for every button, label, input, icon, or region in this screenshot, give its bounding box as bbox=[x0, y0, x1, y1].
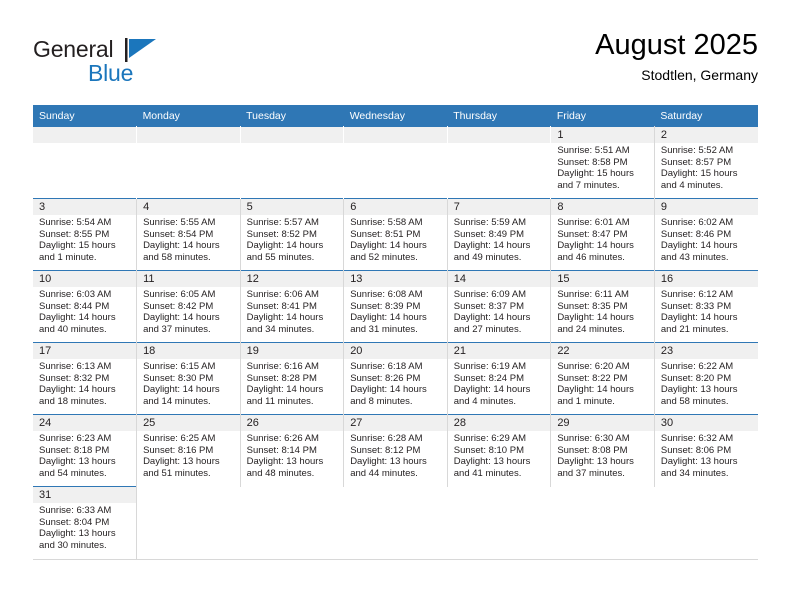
sunset-text: Sunset: 8:30 PM bbox=[143, 373, 235, 385]
daylight-text-line1: Daylight: 13 hours bbox=[247, 456, 339, 468]
sunrise-text: Sunrise: 6:19 AM bbox=[454, 361, 546, 373]
sunrise-text: Sunrise: 6:28 AM bbox=[350, 433, 442, 445]
day-number: 24 bbox=[33, 415, 136, 431]
daylight-text-line1: Daylight: 14 hours bbox=[143, 384, 235, 396]
sunset-text: Sunset: 8:35 PM bbox=[557, 301, 649, 313]
blue-triangle-flag-icon bbox=[125, 38, 157, 62]
calendar-cell-empty bbox=[447, 127, 551, 199]
daylight-text-line2: and 40 minutes. bbox=[39, 324, 131, 336]
day-detail: Sunrise: 6:18 AMSunset: 8:26 PMDaylight:… bbox=[344, 359, 447, 407]
sunset-text: Sunset: 8:47 PM bbox=[557, 229, 649, 241]
daylight-text-line1: Daylight: 13 hours bbox=[350, 456, 442, 468]
sunrise-sunset-calendar: Sunday Monday Tuesday Wednesday Thursday… bbox=[33, 105, 758, 559]
daylight-text-line2: and 30 minutes. bbox=[39, 540, 131, 552]
daylight-text-line1: Daylight: 14 hours bbox=[39, 312, 131, 324]
calendar-day-cell[interactable]: 7Sunrise: 5:59 AMSunset: 8:49 PMDaylight… bbox=[447, 199, 551, 271]
calendar-day-cell[interactable]: 15Sunrise: 6:11 AMSunset: 8:35 PMDayligh… bbox=[551, 271, 655, 343]
day-number-band bbox=[241, 127, 344, 143]
day-number: 6 bbox=[344, 199, 447, 215]
day-number: 18 bbox=[137, 343, 240, 359]
daylight-text-line1: Daylight: 14 hours bbox=[454, 240, 546, 252]
calendar-bottom-rule bbox=[33, 559, 758, 560]
day-detail: Sunrise: 6:06 AMSunset: 8:41 PMDaylight:… bbox=[241, 287, 344, 335]
sunset-text: Sunset: 8:51 PM bbox=[350, 229, 442, 241]
sunset-text: Sunset: 8:54 PM bbox=[143, 229, 235, 241]
daylight-text-line2: and 49 minutes. bbox=[454, 252, 546, 264]
weekday-header-sunday: Sunday bbox=[33, 105, 137, 127]
calendar-day-cell[interactable]: 23Sunrise: 6:22 AMSunset: 8:20 PMDayligh… bbox=[654, 343, 758, 415]
calendar-day-cell[interactable]: 8Sunrise: 6:01 AMSunset: 8:47 PMDaylight… bbox=[551, 199, 655, 271]
daylight-text-line2: and 24 minutes. bbox=[557, 324, 649, 336]
day-detail: Sunrise: 6:19 AMSunset: 8:24 PMDaylight:… bbox=[448, 359, 551, 407]
day-detail: Sunrise: 6:16 AMSunset: 8:28 PMDaylight:… bbox=[241, 359, 344, 407]
day-number: 16 bbox=[655, 271, 758, 287]
sunrise-text: Sunrise: 6:15 AM bbox=[143, 361, 235, 373]
daylight-text-line1: Daylight: 14 hours bbox=[661, 312, 753, 324]
day-detail: Sunrise: 6:32 AMSunset: 8:06 PMDaylight:… bbox=[655, 431, 758, 479]
day-number: 3 bbox=[33, 199, 136, 215]
sunset-text: Sunset: 8:49 PM bbox=[454, 229, 546, 241]
day-number: 30 bbox=[655, 415, 758, 431]
day-detail: Sunrise: 5:58 AMSunset: 8:51 PMDaylight:… bbox=[344, 215, 447, 263]
daylight-text-line2: and 44 minutes. bbox=[350, 468, 442, 480]
day-number: 12 bbox=[241, 271, 344, 287]
day-detail: Sunrise: 5:55 AMSunset: 8:54 PMDaylight:… bbox=[137, 215, 240, 263]
sunrise-text: Sunrise: 5:52 AM bbox=[661, 145, 753, 157]
logo-text-blue: Blue bbox=[88, 60, 133, 87]
day-number: 8 bbox=[551, 199, 654, 215]
sunset-text: Sunset: 8:20 PM bbox=[661, 373, 753, 385]
calendar-day-cell[interactable]: 26Sunrise: 6:26 AMSunset: 8:14 PMDayligh… bbox=[240, 415, 344, 487]
daylight-text-line2: and 34 minutes. bbox=[661, 468, 753, 480]
day-detail: Sunrise: 5:59 AMSunset: 8:49 PMDaylight:… bbox=[448, 215, 551, 263]
daylight-text-line2: and 37 minutes. bbox=[557, 468, 649, 480]
sunrise-text: Sunrise: 6:08 AM bbox=[350, 289, 442, 301]
day-number-band bbox=[344, 127, 447, 143]
daylight-text-line1: Daylight: 13 hours bbox=[454, 456, 546, 468]
day-detail: Sunrise: 6:30 AMSunset: 8:08 PMDaylight:… bbox=[551, 431, 654, 479]
day-number: 31 bbox=[33, 487, 136, 503]
sunset-text: Sunset: 8:14 PM bbox=[247, 445, 339, 457]
sunrise-text: Sunrise: 5:55 AM bbox=[143, 217, 235, 229]
calendar-day-cell[interactable]: 22Sunrise: 6:20 AMSunset: 8:22 PMDayligh… bbox=[551, 343, 655, 415]
calendar-day-cell[interactable]: 12Sunrise: 6:06 AMSunset: 8:41 PMDayligh… bbox=[240, 271, 344, 343]
calendar-week-row: 31Sunrise: 6:33 AMSunset: 8:04 PMDayligh… bbox=[33, 487, 758, 559]
sunrise-text: Sunrise: 6:06 AM bbox=[247, 289, 339, 301]
day-number: 20 bbox=[344, 343, 447, 359]
sunset-text: Sunset: 8:12 PM bbox=[350, 445, 442, 457]
calendar-cell-blank bbox=[654, 487, 758, 559]
page-subtitle-location: Stodtlen, Germany bbox=[595, 65, 758, 85]
calendar-day-cell[interactable]: 21Sunrise: 6:19 AMSunset: 8:24 PMDayligh… bbox=[447, 343, 551, 415]
daylight-text-line1: Daylight: 13 hours bbox=[557, 456, 649, 468]
weekday-header-friday: Friday bbox=[551, 105, 655, 127]
daylight-text-line1: Daylight: 14 hours bbox=[350, 384, 442, 396]
calendar-day-cell[interactable]: 31Sunrise: 6:33 AMSunset: 8:04 PMDayligh… bbox=[33, 487, 137, 559]
daylight-text-line1: Daylight: 14 hours bbox=[247, 312, 339, 324]
calendar-week-row: 1Sunrise: 5:51 AMSunset: 8:58 PMDaylight… bbox=[33, 127, 758, 199]
day-detail: Sunrise: 6:13 AMSunset: 8:32 PMDaylight:… bbox=[33, 359, 136, 407]
sunrise-text: Sunrise: 6:29 AM bbox=[454, 433, 546, 445]
page-header: General Blue August 2025 Stodtlen, Germa… bbox=[33, 28, 758, 94]
day-detail: Sunrise: 5:54 AMSunset: 8:55 PMDaylight:… bbox=[33, 215, 136, 263]
weekday-header-row: Sunday Monday Tuesday Wednesday Thursday… bbox=[33, 105, 758, 127]
calendar-week-row: 10Sunrise: 6:03 AMSunset: 8:44 PMDayligh… bbox=[33, 271, 758, 343]
sunset-text: Sunset: 8:46 PM bbox=[661, 229, 753, 241]
calendar-day-cell[interactable]: 24Sunrise: 6:23 AMSunset: 8:18 PMDayligh… bbox=[33, 415, 137, 487]
daylight-text-line2: and 4 minutes. bbox=[454, 396, 546, 408]
daylight-text-line1: Daylight: 14 hours bbox=[350, 240, 442, 252]
calendar-day-cell[interactable]: 2Sunrise: 5:52 AMSunset: 8:57 PMDaylight… bbox=[654, 127, 758, 199]
calendar-cell-empty bbox=[240, 127, 344, 199]
calendar-page: General Blue August 2025 Stodtlen, Germa… bbox=[0, 0, 792, 612]
sunset-text: Sunset: 8:33 PM bbox=[661, 301, 753, 313]
day-number: 15 bbox=[551, 271, 654, 287]
sunset-text: Sunset: 8:44 PM bbox=[39, 301, 131, 313]
sunrise-text: Sunrise: 6:30 AM bbox=[557, 433, 649, 445]
day-detail: Sunrise: 6:11 AMSunset: 8:35 PMDaylight:… bbox=[551, 287, 654, 335]
calendar-day-cell[interactable]: 6Sunrise: 5:58 AMSunset: 8:51 PMDaylight… bbox=[344, 199, 448, 271]
day-number: 27 bbox=[344, 415, 447, 431]
daylight-text-line2: and 58 minutes. bbox=[661, 396, 753, 408]
day-detail: Sunrise: 6:01 AMSunset: 8:47 PMDaylight:… bbox=[551, 215, 654, 263]
daylight-text-line2: and 48 minutes. bbox=[247, 468, 339, 480]
calendar-day-cell[interactable]: 28Sunrise: 6:29 AMSunset: 8:10 PMDayligh… bbox=[447, 415, 551, 487]
calendar-day-cell[interactable]: 9Sunrise: 6:02 AMSunset: 8:46 PMDaylight… bbox=[654, 199, 758, 271]
general-blue-logo: General Blue bbox=[33, 36, 233, 88]
daylight-text-line1: Daylight: 14 hours bbox=[143, 312, 235, 324]
day-detail: Sunrise: 5:51 AMSunset: 8:58 PMDaylight:… bbox=[551, 143, 654, 191]
day-number-band bbox=[33, 127, 136, 143]
day-number: 19 bbox=[241, 343, 344, 359]
sunset-text: Sunset: 8:04 PM bbox=[39, 517, 131, 529]
sunrise-text: Sunrise: 6:02 AM bbox=[661, 217, 753, 229]
sunrise-text: Sunrise: 6:01 AM bbox=[557, 217, 649, 229]
sunset-text: Sunset: 8:41 PM bbox=[247, 301, 339, 313]
sunset-text: Sunset: 8:39 PM bbox=[350, 301, 442, 313]
day-detail: Sunrise: 6:02 AMSunset: 8:46 PMDaylight:… bbox=[655, 215, 758, 263]
daylight-text-line1: Daylight: 14 hours bbox=[350, 312, 442, 324]
day-number: 4 bbox=[137, 199, 240, 215]
sunrise-text: Sunrise: 6:16 AM bbox=[247, 361, 339, 373]
daylight-text-line1: Daylight: 14 hours bbox=[247, 240, 339, 252]
calendar-day-cell[interactable]: 1Sunrise: 5:51 AMSunset: 8:58 PMDaylight… bbox=[551, 127, 655, 199]
day-number-band bbox=[448, 127, 551, 143]
sunrise-text: Sunrise: 6:23 AM bbox=[39, 433, 131, 445]
sunset-text: Sunset: 8:37 PM bbox=[454, 301, 546, 313]
calendar-cell-blank bbox=[447, 487, 551, 559]
day-number: 17 bbox=[33, 343, 136, 359]
daylight-text-line2: and 7 minutes. bbox=[557, 180, 649, 192]
daylight-text-line1: Daylight: 15 hours bbox=[661, 168, 753, 180]
day-detail: Sunrise: 6:23 AMSunset: 8:18 PMDaylight:… bbox=[33, 431, 136, 479]
daylight-text-line1: Daylight: 14 hours bbox=[557, 240, 649, 252]
calendar-day-cell[interactable]: 18Sunrise: 6:15 AMSunset: 8:30 PMDayligh… bbox=[137, 343, 241, 415]
day-detail: Sunrise: 5:57 AMSunset: 8:52 PMDaylight:… bbox=[241, 215, 344, 263]
daylight-text-line1: Daylight: 14 hours bbox=[557, 312, 649, 324]
daylight-text-line2: and 1 minute. bbox=[39, 252, 131, 264]
daylight-text-line2: and 34 minutes. bbox=[247, 324, 339, 336]
day-number: 13 bbox=[344, 271, 447, 287]
sunset-text: Sunset: 8:42 PM bbox=[143, 301, 235, 313]
calendar-week-row: 24Sunrise: 6:23 AMSunset: 8:18 PMDayligh… bbox=[33, 415, 758, 487]
daylight-text-line2: and 1 minute. bbox=[557, 396, 649, 408]
calendar-day-cell[interactable]: 16Sunrise: 6:12 AMSunset: 8:33 PMDayligh… bbox=[654, 271, 758, 343]
daylight-text-line2: and 54 minutes. bbox=[39, 468, 131, 480]
day-detail: Sunrise: 6:15 AMSunset: 8:30 PMDaylight:… bbox=[137, 359, 240, 407]
calendar-cell-blank bbox=[240, 487, 344, 559]
calendar-week-row: 3Sunrise: 5:54 AMSunset: 8:55 PMDaylight… bbox=[33, 199, 758, 271]
daylight-text-line2: and 41 minutes. bbox=[454, 468, 546, 480]
day-number: 22 bbox=[551, 343, 654, 359]
sunrise-text: Sunrise: 5:58 AM bbox=[350, 217, 442, 229]
sunrise-text: Sunrise: 5:59 AM bbox=[454, 217, 546, 229]
sunrise-text: Sunrise: 5:54 AM bbox=[39, 217, 131, 229]
day-number: 11 bbox=[137, 271, 240, 287]
day-detail: Sunrise: 6:05 AMSunset: 8:42 PMDaylight:… bbox=[137, 287, 240, 335]
sunrise-text: Sunrise: 6:13 AM bbox=[39, 361, 131, 373]
day-number: 9 bbox=[655, 199, 758, 215]
sunset-text: Sunset: 8:24 PM bbox=[454, 373, 546, 385]
day-detail: Sunrise: 6:03 AMSunset: 8:44 PMDaylight:… bbox=[33, 287, 136, 335]
daylight-text-line1: Daylight: 15 hours bbox=[39, 240, 131, 252]
sunrise-text: Sunrise: 6:33 AM bbox=[39, 505, 131, 517]
day-detail: Sunrise: 6:33 AMSunset: 8:04 PMDaylight:… bbox=[33, 503, 136, 551]
calendar-day-cell[interactable]: 14Sunrise: 6:09 AMSunset: 8:37 PMDayligh… bbox=[447, 271, 551, 343]
sunset-text: Sunset: 8:32 PM bbox=[39, 373, 131, 385]
sunset-text: Sunset: 8:10 PM bbox=[454, 445, 546, 457]
calendar-cell-blank bbox=[137, 487, 241, 559]
sunrise-text: Sunrise: 6:20 AM bbox=[557, 361, 649, 373]
day-number: 23 bbox=[655, 343, 758, 359]
daylight-text-line2: and 11 minutes. bbox=[247, 396, 339, 408]
day-detail: Sunrise: 5:52 AMSunset: 8:57 PMDaylight:… bbox=[655, 143, 758, 191]
daylight-text-line2: and 21 minutes. bbox=[661, 324, 753, 336]
daylight-text-line1: Daylight: 15 hours bbox=[557, 168, 649, 180]
day-detail: Sunrise: 6:09 AMSunset: 8:37 PMDaylight:… bbox=[448, 287, 551, 335]
calendar-day-cell[interactable]: 4Sunrise: 5:55 AMSunset: 8:54 PMDaylight… bbox=[137, 199, 241, 271]
sunrise-text: Sunrise: 6:18 AM bbox=[350, 361, 442, 373]
sunset-text: Sunset: 8:18 PM bbox=[39, 445, 131, 457]
weekday-header-monday: Monday bbox=[137, 105, 241, 127]
calendar-cell-empty bbox=[137, 127, 241, 199]
daylight-text-line2: and 18 minutes. bbox=[39, 396, 131, 408]
calendar-day-cell[interactable]: 5Sunrise: 5:57 AMSunset: 8:52 PMDaylight… bbox=[240, 199, 344, 271]
sunrise-text: Sunrise: 5:51 AM bbox=[557, 145, 649, 157]
sunset-text: Sunset: 8:28 PM bbox=[247, 373, 339, 385]
sunset-text: Sunset: 8:57 PM bbox=[661, 157, 753, 169]
day-detail: Sunrise: 6:12 AMSunset: 8:33 PMDaylight:… bbox=[655, 287, 758, 335]
calendar-cell-blank bbox=[551, 487, 655, 559]
day-number: 10 bbox=[33, 271, 136, 287]
day-number: 5 bbox=[241, 199, 344, 215]
calendar-day-cell[interactable]: 29Sunrise: 6:30 AMSunset: 8:08 PMDayligh… bbox=[551, 415, 655, 487]
day-number: 28 bbox=[448, 415, 551, 431]
day-detail: Sunrise: 6:25 AMSunset: 8:16 PMDaylight:… bbox=[137, 431, 240, 479]
day-number: 1 bbox=[551, 127, 654, 143]
daylight-text-line2: and 46 minutes. bbox=[557, 252, 649, 264]
daylight-text-line2: and 51 minutes. bbox=[143, 468, 235, 480]
daylight-text-line2: and 55 minutes. bbox=[247, 252, 339, 264]
sunset-text: Sunset: 8:08 PM bbox=[557, 445, 649, 457]
sunrise-text: Sunrise: 6:25 AM bbox=[143, 433, 235, 445]
calendar-day-cell[interactable]: 30Sunrise: 6:32 AMSunset: 8:06 PMDayligh… bbox=[654, 415, 758, 487]
sunrise-text: Sunrise: 6:11 AM bbox=[557, 289, 649, 301]
day-number: 26 bbox=[241, 415, 344, 431]
sunrise-text: Sunrise: 6:05 AM bbox=[143, 289, 235, 301]
calendar-day-cell[interactable]: 20Sunrise: 6:18 AMSunset: 8:26 PMDayligh… bbox=[344, 343, 448, 415]
daylight-text-line1: Daylight: 14 hours bbox=[454, 312, 546, 324]
daylight-text-line2: and 31 minutes. bbox=[350, 324, 442, 336]
sunrise-text: Sunrise: 6:09 AM bbox=[454, 289, 546, 301]
day-number: 2 bbox=[655, 127, 758, 143]
title-block: August 2025 Stodtlen, Germany bbox=[595, 28, 758, 85]
daylight-text-line1: Daylight: 13 hours bbox=[39, 528, 131, 540]
calendar-day-cell[interactable]: 13Sunrise: 6:08 AMSunset: 8:39 PMDayligh… bbox=[344, 271, 448, 343]
sunset-text: Sunset: 8:22 PM bbox=[557, 373, 649, 385]
sunset-text: Sunset: 8:55 PM bbox=[39, 229, 131, 241]
sunset-text: Sunset: 8:06 PM bbox=[661, 445, 753, 457]
calendar-cell-empty bbox=[33, 127, 137, 199]
calendar-day-cell[interactable]: 17Sunrise: 6:13 AMSunset: 8:32 PMDayligh… bbox=[33, 343, 137, 415]
sunset-text: Sunset: 8:52 PM bbox=[247, 229, 339, 241]
calendar-day-cell[interactable]: 19Sunrise: 6:16 AMSunset: 8:28 PMDayligh… bbox=[240, 343, 344, 415]
day-detail: Sunrise: 6:22 AMSunset: 8:20 PMDaylight:… bbox=[655, 359, 758, 407]
weekday-header-saturday: Saturday bbox=[654, 105, 758, 127]
daylight-text-line1: Daylight: 14 hours bbox=[454, 384, 546, 396]
day-detail: Sunrise: 6:08 AMSunset: 8:39 PMDaylight:… bbox=[344, 287, 447, 335]
daylight-text-line1: Daylight: 13 hours bbox=[661, 384, 753, 396]
sunrise-text: Sunrise: 6:22 AM bbox=[661, 361, 753, 373]
daylight-text-line2: and 43 minutes. bbox=[661, 252, 753, 264]
day-number: 21 bbox=[448, 343, 551, 359]
daylight-text-line2: and 58 minutes. bbox=[143, 252, 235, 264]
sunrise-text: Sunrise: 6:26 AM bbox=[247, 433, 339, 445]
day-number: 14 bbox=[448, 271, 551, 287]
daylight-text-line2: and 14 minutes. bbox=[143, 396, 235, 408]
calendar-body: 1Sunrise: 5:51 AMSunset: 8:58 PMDaylight… bbox=[33, 127, 758, 559]
calendar-week-row: 17Sunrise: 6:13 AMSunset: 8:32 PMDayligh… bbox=[33, 343, 758, 415]
daylight-text-line2: and 37 minutes. bbox=[143, 324, 235, 336]
daylight-text-line1: Daylight: 14 hours bbox=[247, 384, 339, 396]
day-detail: Sunrise: 6:28 AMSunset: 8:12 PMDaylight:… bbox=[344, 431, 447, 479]
calendar-cell-empty bbox=[344, 127, 448, 199]
sunset-text: Sunset: 8:26 PM bbox=[350, 373, 442, 385]
day-detail: Sunrise: 6:20 AMSunset: 8:22 PMDaylight:… bbox=[551, 359, 654, 407]
day-number-band bbox=[137, 127, 240, 143]
daylight-text-line1: Daylight: 13 hours bbox=[661, 456, 753, 468]
sunrise-text: Sunrise: 6:32 AM bbox=[661, 433, 753, 445]
page-title: August 2025 bbox=[595, 28, 758, 62]
calendar-day-cell[interactable]: 27Sunrise: 6:28 AMSunset: 8:12 PMDayligh… bbox=[344, 415, 448, 487]
daylight-text-line1: Daylight: 14 hours bbox=[661, 240, 753, 252]
daylight-text-line1: Daylight: 14 hours bbox=[557, 384, 649, 396]
daylight-text-line1: Daylight: 13 hours bbox=[39, 456, 131, 468]
day-number: 25 bbox=[137, 415, 240, 431]
weekday-header-wednesday: Wednesday bbox=[344, 105, 448, 127]
weekday-header-thursday: Thursday bbox=[447, 105, 551, 127]
sunrise-text: Sunrise: 6:12 AM bbox=[661, 289, 753, 301]
daylight-text-line1: Daylight: 13 hours bbox=[143, 456, 235, 468]
day-detail: Sunrise: 6:29 AMSunset: 8:10 PMDaylight:… bbox=[448, 431, 551, 479]
daylight-text-line1: Daylight: 14 hours bbox=[39, 384, 131, 396]
calendar-day-cell[interactable]: 3Sunrise: 5:54 AMSunset: 8:55 PMDaylight… bbox=[33, 199, 137, 271]
daylight-text-line2: and 52 minutes. bbox=[350, 252, 442, 264]
sunset-text: Sunset: 8:16 PM bbox=[143, 445, 235, 457]
calendar-cell-blank bbox=[344, 487, 448, 559]
sunset-text: Sunset: 8:58 PM bbox=[557, 157, 649, 169]
day-number: 29 bbox=[551, 415, 654, 431]
weekday-header-tuesday: Tuesday bbox=[240, 105, 344, 127]
daylight-text-line2: and 4 minutes. bbox=[661, 180, 753, 192]
day-number: 7 bbox=[448, 199, 551, 215]
calendar-day-cell[interactable]: 25Sunrise: 6:25 AMSunset: 8:16 PMDayligh… bbox=[137, 415, 241, 487]
daylight-text-line2: and 8 minutes. bbox=[350, 396, 442, 408]
sunrise-text: Sunrise: 5:57 AM bbox=[247, 217, 339, 229]
calendar-day-cell[interactable]: 11Sunrise: 6:05 AMSunset: 8:42 PMDayligh… bbox=[137, 271, 241, 343]
daylight-text-line2: and 27 minutes. bbox=[454, 324, 546, 336]
logo-text-general: General bbox=[33, 36, 113, 63]
sunrise-text: Sunrise: 6:03 AM bbox=[39, 289, 131, 301]
day-detail: Sunrise: 6:26 AMSunset: 8:14 PMDaylight:… bbox=[241, 431, 344, 479]
daylight-text-line1: Daylight: 14 hours bbox=[143, 240, 235, 252]
calendar-day-cell[interactable]: 10Sunrise: 6:03 AMSunset: 8:44 PMDayligh… bbox=[33, 271, 137, 343]
